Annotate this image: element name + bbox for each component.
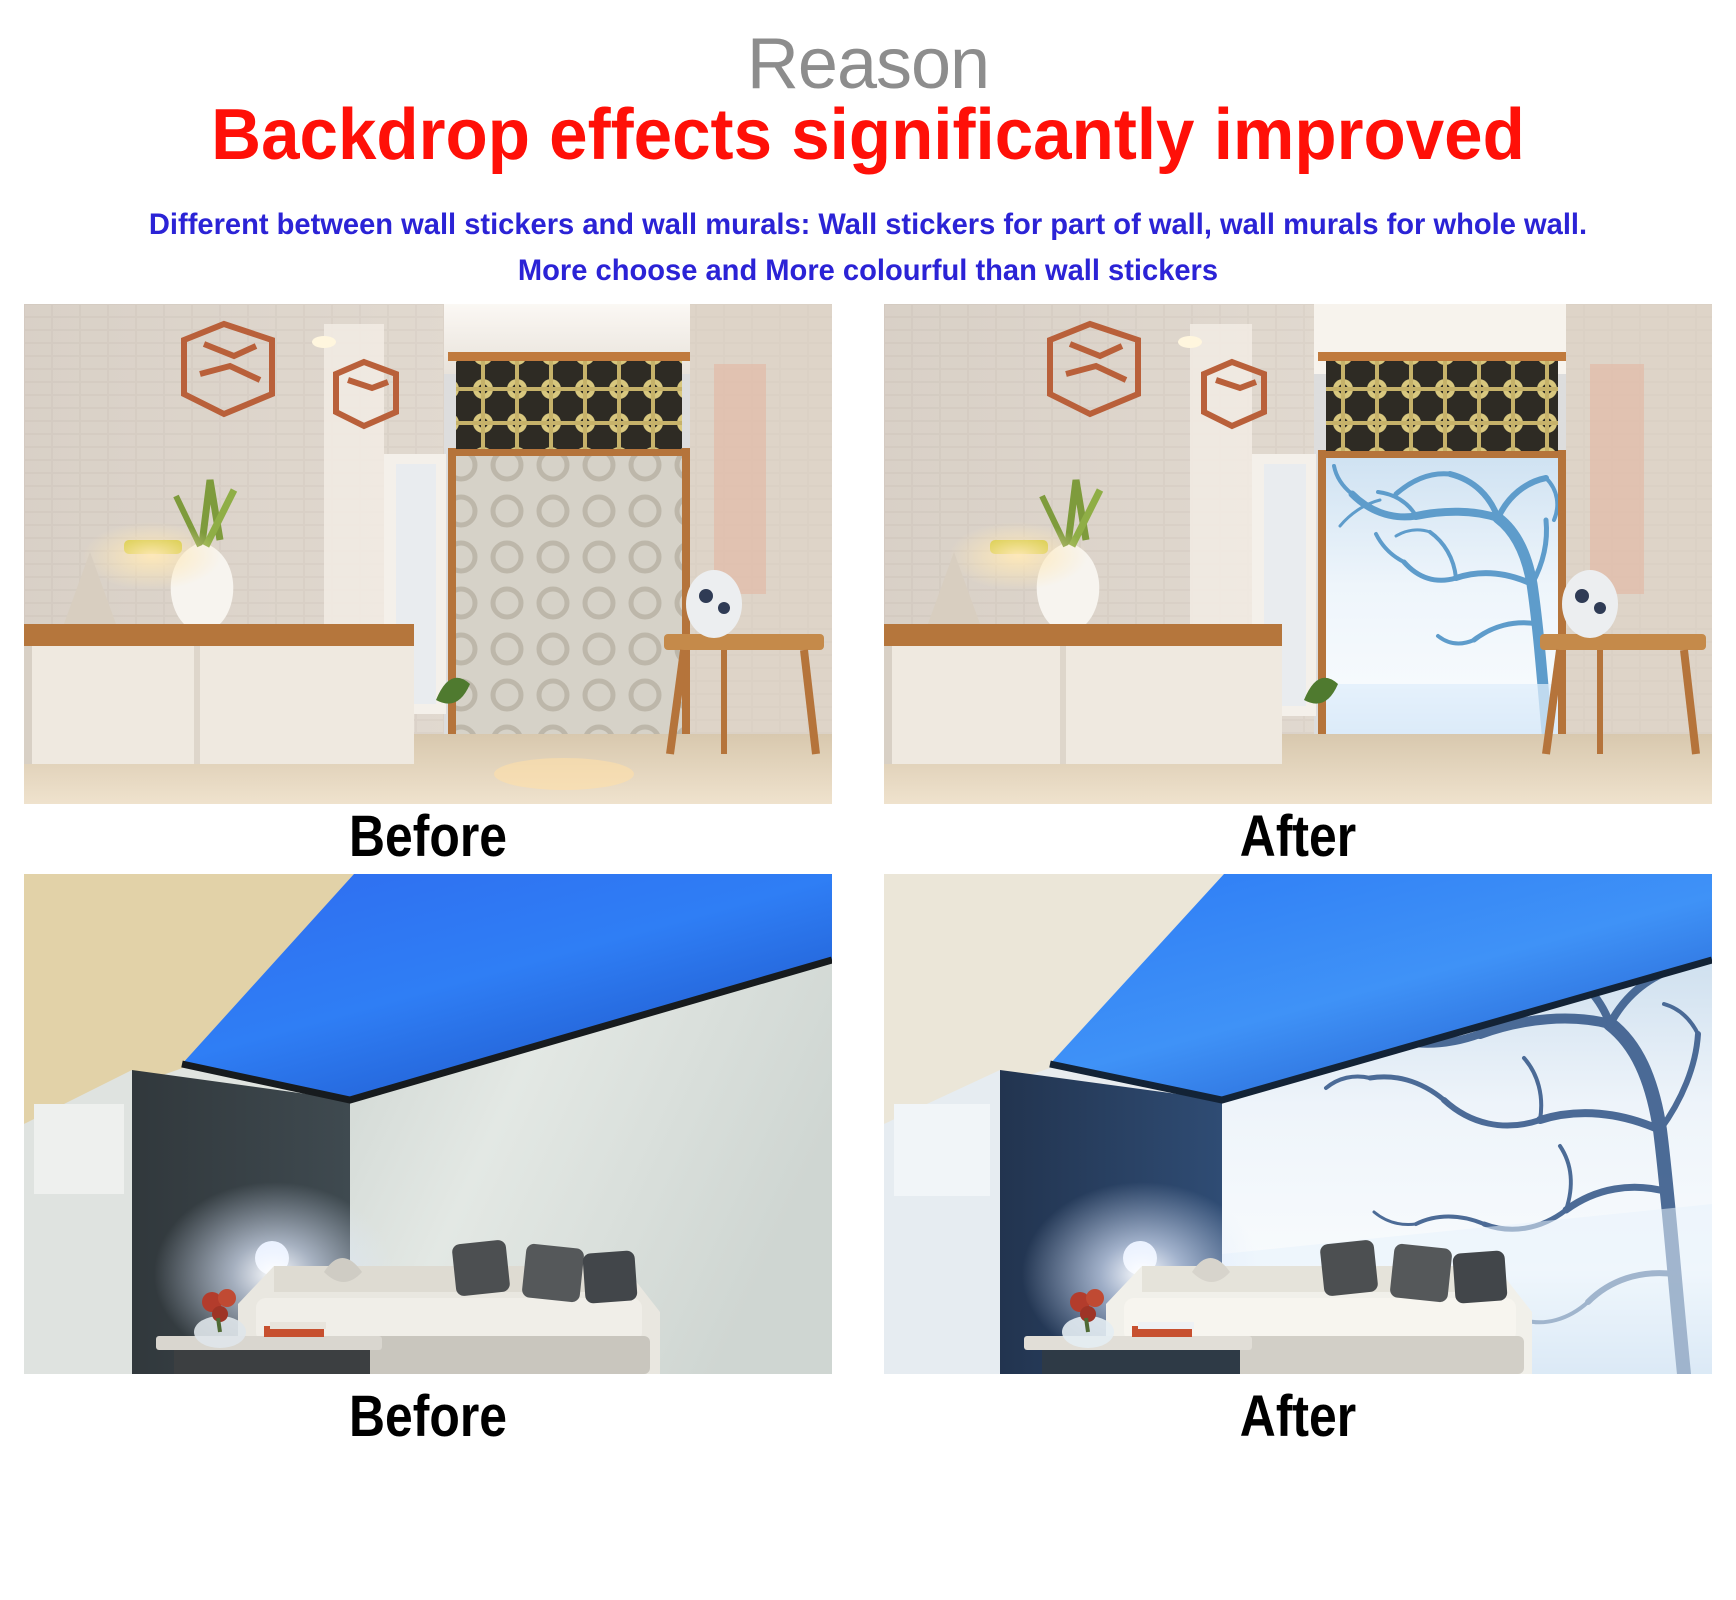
photo-frame <box>884 304 1712 804</box>
page-title: Backdrop effects significantly improved <box>35 98 1702 174</box>
photo-frame <box>24 304 832 804</box>
photo-hallway-before <box>24 304 832 804</box>
eyebrow-title: Reason <box>0 28 1736 100</box>
photo-frame <box>884 874 1712 1374</box>
header: Reason Backdrop effects significantly im… <box>0 0 1736 300</box>
subtitle-line-1: Different between wall stickers and wall… <box>26 206 1710 244</box>
photo-living-room-after <box>884 874 1712 1374</box>
promo-banner: Reason Backdrop effects significantly im… <box>0 0 1736 1600</box>
caption-hallway-after: After <box>942 808 1654 866</box>
living-room-before-illustration <box>24 874 832 1374</box>
hallway-before-illustration <box>24 304 832 804</box>
hallway-after-illustration <box>884 304 1712 804</box>
subtitle-line-2: More choose and More colourful than wall… <box>26 252 1710 290</box>
photo-living-room-before <box>24 874 832 1374</box>
photo-frame <box>24 874 832 1374</box>
caption-hallway-before: Before <box>81 808 776 866</box>
comparison-grid: Before <box>0 296 1736 1600</box>
caption-living-room-after: After <box>942 1388 1654 1446</box>
photo-hallway-after <box>884 304 1712 804</box>
caption-living-room-before: Before <box>81 1388 776 1446</box>
living-room-after-illustration <box>884 874 1712 1374</box>
